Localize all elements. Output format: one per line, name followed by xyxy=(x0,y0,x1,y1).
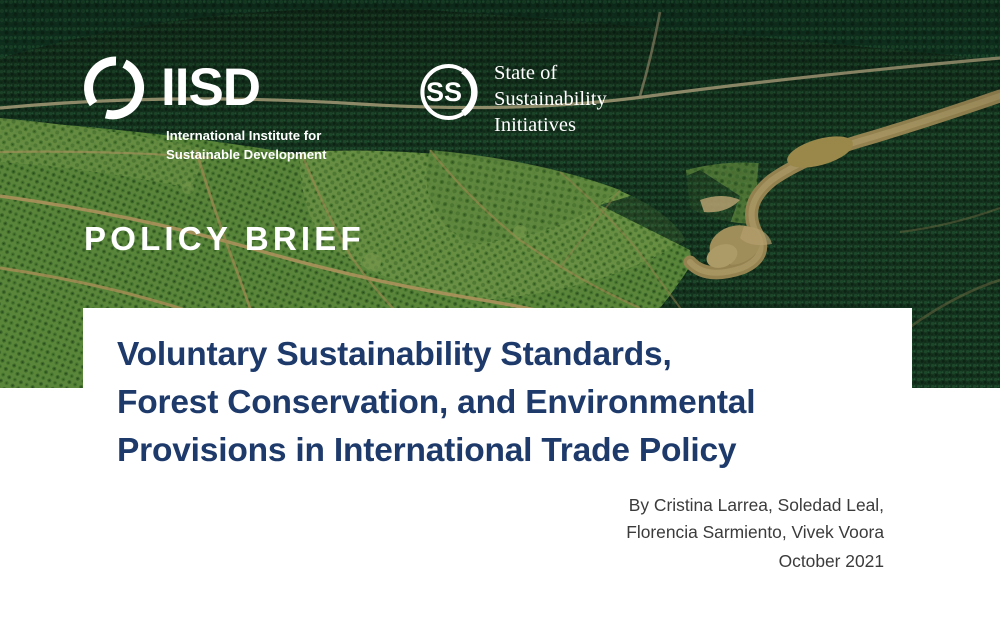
iisd-tagline: International Institute for Sustainable … xyxy=(166,127,338,164)
ssi-wordmark: State of Sustainability Initiatives xyxy=(494,61,607,138)
logo-row: IISD International Institute for Sustain… xyxy=(83,55,607,164)
iisd-wordmark: IISD xyxy=(161,61,260,114)
page-title: Voluntary Sustainability Standards, Fore… xyxy=(117,331,907,476)
policy-brief-kicker: Policy Brief xyxy=(84,222,365,255)
authors-line: By Cristina Larrea, Soledad Leal, Floren… xyxy=(626,492,884,547)
ssi-mark-letters: SS xyxy=(426,77,462,107)
ssi-logo: SS State of Sustainability Initiatives xyxy=(411,57,607,138)
iisd-ring-icon xyxy=(83,55,149,121)
iisd-logo-top: IISD xyxy=(83,55,338,121)
publication-date: October 2021 xyxy=(779,548,884,575)
iisd-logo: IISD International Institute for Sustain… xyxy=(83,55,338,164)
ssi-circle-icon: SS xyxy=(411,57,481,127)
